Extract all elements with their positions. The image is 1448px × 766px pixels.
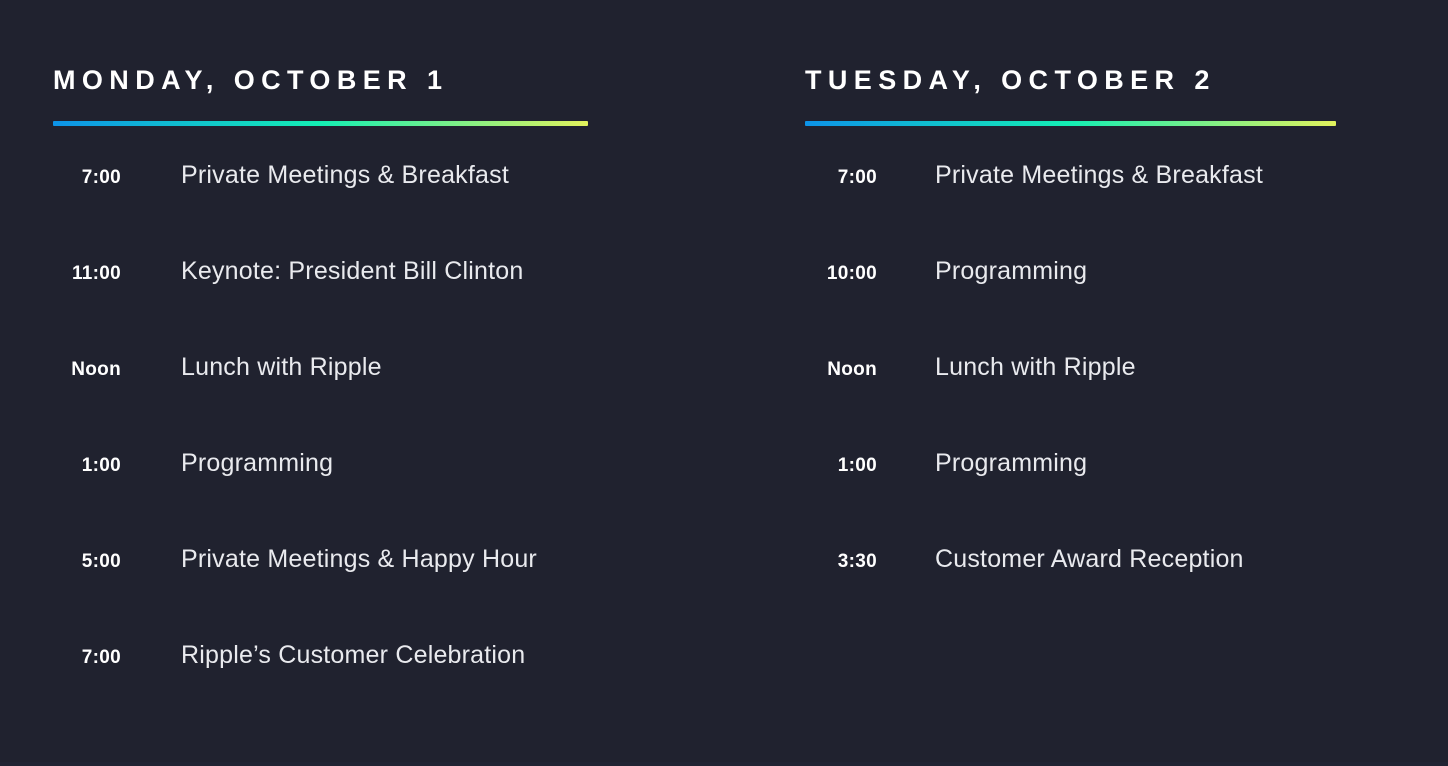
- agenda-row-event: Private Meetings & Breakfast: [181, 163, 509, 188]
- agenda-row-time: 7:00: [53, 648, 121, 667]
- agenda-row-time: 10:00: [805, 264, 877, 283]
- day-column-tuesday: TUESDAY, OCTOBER 2 7:00 Private Meetings…: [800, 0, 1448, 766]
- agenda-row[interactable]: 1:00 Programming: [53, 451, 800, 547]
- agenda-row-event: Lunch with Ripple: [181, 355, 382, 380]
- agenda-row[interactable]: 1:00 Programming: [805, 451, 1448, 547]
- agenda-row-time: 7:00: [53, 168, 121, 187]
- agenda-row[interactable]: 11:00 Keynote: President Bill Clinton: [53, 259, 800, 355]
- day-column-monday: MONDAY, OCTOBER 1 7:00 Private Meetings …: [0, 0, 800, 766]
- agenda-row-event: Private Meetings & Happy Hour: [181, 547, 537, 572]
- agenda-row-event: Ripple’s Customer Celebration: [181, 643, 525, 668]
- agenda-row-event: Programming: [935, 259, 1087, 284]
- agenda-row-event: Private Meetings & Breakfast: [935, 163, 1263, 188]
- agenda-row[interactable]: 10:00 Programming: [805, 259, 1448, 355]
- agenda-row[interactable]: Noon Lunch with Ripple: [53, 355, 800, 451]
- agenda-list-monday: 7:00 Private Meetings & Breakfast 11:00 …: [53, 163, 800, 739]
- agenda-row-time: Noon: [53, 360, 121, 379]
- agenda-row-event: Customer Award Reception: [935, 547, 1244, 572]
- agenda-row[interactable]: 7:00 Private Meetings & Breakfast: [53, 163, 800, 259]
- agenda-row-time: 5:00: [53, 552, 121, 571]
- event-schedule-board: MONDAY, OCTOBER 1 7:00 Private Meetings …: [0, 0, 1448, 766]
- agenda-row-time: Noon: [805, 360, 877, 379]
- agenda-row[interactable]: 3:30 Customer Award Reception: [805, 547, 1448, 643]
- bottom-edge-strip: [0, 762, 1448, 766]
- agenda-row-event: Programming: [181, 451, 333, 476]
- agenda-row[interactable]: 7:00 Ripple’s Customer Celebration: [53, 643, 800, 739]
- agenda-row[interactable]: Noon Lunch with Ripple: [805, 355, 1448, 451]
- agenda-row-time: 1:00: [805, 456, 877, 475]
- agenda-row[interactable]: 5:00 Private Meetings & Happy Hour: [53, 547, 800, 643]
- day-title-monday: MONDAY, OCTOBER 1: [53, 0, 800, 94]
- agenda-row-time: 1:00: [53, 456, 121, 475]
- gradient-divider-tuesday: [805, 121, 1336, 126]
- agenda-row-event: Lunch with Ripple: [935, 355, 1136, 380]
- agenda-row[interactable]: 7:00 Private Meetings & Breakfast: [805, 163, 1448, 259]
- agenda-row-event: Programming: [935, 451, 1087, 476]
- agenda-row-time: 3:30: [805, 552, 877, 571]
- agenda-row-time: 7:00: [805, 168, 877, 187]
- agenda-row-event: Keynote: President Bill Clinton: [181, 259, 524, 284]
- agenda-list-tuesday: 7:00 Private Meetings & Breakfast 10:00 …: [805, 163, 1448, 643]
- gradient-divider-monday: [53, 121, 588, 126]
- agenda-row-time: 11:00: [53, 264, 121, 283]
- day-title-tuesday: TUESDAY, OCTOBER 2: [805, 0, 1448, 94]
